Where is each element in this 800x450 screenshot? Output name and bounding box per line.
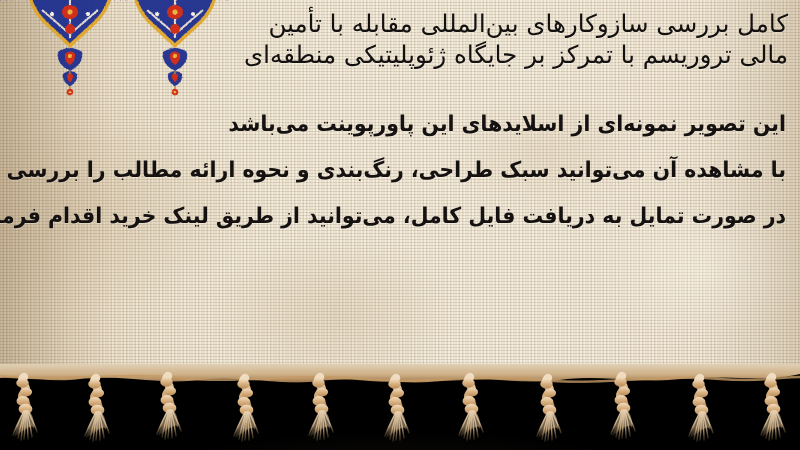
body-line-2: با مشاهده آن می‌توانید سبک طراحی، رنگ‌بن… [68, 158, 786, 183]
slide-title: کامل بررسی سازوکارهای بین‌المللی مقابله … [188, 8, 788, 71]
title-line-2: مالی تروریسم با تمرکز بر جایگاه ژئوپلیتی… [188, 39, 788, 70]
body-line-1: این تصویر نمونه‌ای از اسلایدهای این پاور… [68, 112, 786, 137]
carpet-tassel-svg [0, 364, 800, 450]
slide-body-text: این تصویر نمونه‌ای از اسلایدهای این پاور… [14, 112, 786, 250]
body-line-3: در صورت تمایل به دریافت فایل کامل، می‌تو… [68, 204, 786, 229]
title-line-1: کامل بررسی سازوکارهای بین‌المللی مقابله … [188, 8, 788, 39]
carpet-tassel-row [0, 364, 800, 450]
carpet-fringe-band [0, 364, 800, 450]
slide-canvas: کامل بررسی سازوکارهای بین‌المللی مقابله … [0, 0, 800, 450]
